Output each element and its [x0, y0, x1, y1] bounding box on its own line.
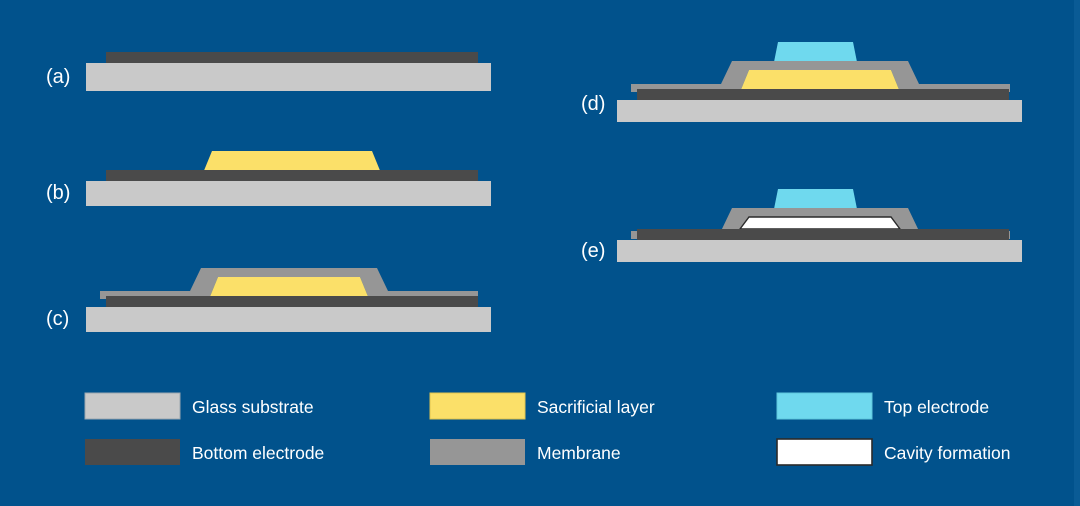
- process-flow-figure: (a) (b) (c): [0, 0, 1080, 506]
- panel-d-sacrificial-layer: [740, 70, 900, 92]
- legend-item-top-electrode: Top electrode: [777, 393, 989, 419]
- panel-a: (a): [46, 52, 491, 91]
- legend-label-top-electrode: Top electrode: [884, 397, 989, 417]
- legend-swatch-bottom-electrode: [85, 439, 180, 465]
- legend-label-sacrificial-layer: Sacrificial layer: [537, 397, 655, 417]
- panel-b: (b): [46, 151, 491, 206]
- legend: Glass substrate Bottom electrode Sacrifi…: [85, 393, 1010, 465]
- panel-e-top-electrode: [774, 189, 857, 209]
- legend-item-glass-substrate: Glass substrate: [85, 393, 314, 419]
- panel-b-sacrificial-layer: [203, 151, 381, 173]
- panel-d: (d): [581, 42, 1022, 122]
- panel-c-label: (c): [46, 308, 69, 330]
- panel-c: (c): [46, 268, 491, 332]
- panel-e-cavity-formation: [740, 217, 900, 229]
- right-edge-strip: [1074, 0, 1080, 506]
- panel-e-label: (e): [581, 240, 605, 262]
- panel-a-label: (a): [46, 66, 70, 88]
- legend-label-membrane: Membrane: [537, 443, 621, 463]
- legend-swatch-sacrificial-layer: [430, 393, 525, 419]
- panel-c-bottom-electrode: [106, 296, 478, 307]
- legend-item-membrane: Membrane: [430, 439, 621, 465]
- panel-d-top-electrode: [774, 42, 857, 62]
- legend-swatch-glass-substrate: [85, 393, 180, 419]
- panel-e-bottom-electrode: [637, 229, 1009, 240]
- panel-a-bottom-electrode: [106, 52, 478, 63]
- panel-e: (e): [581, 189, 1022, 262]
- legend-item-sacrificial-layer: Sacrificial layer: [430, 393, 655, 419]
- panel-c-sacrificial-layer: [209, 277, 369, 299]
- panel-a-glass-substrate: [86, 63, 491, 91]
- legend-label-bottom-electrode: Bottom electrode: [192, 443, 324, 463]
- legend-swatch-membrane: [430, 439, 525, 465]
- legend-label-cavity-formation: Cavity formation: [884, 443, 1010, 463]
- panel-b-glass-substrate: [86, 181, 491, 206]
- legend-item-cavity-formation: Cavity formation: [777, 439, 1010, 465]
- legend-label-glass-substrate: Glass substrate: [192, 397, 314, 417]
- panel-b-label: (b): [46, 182, 70, 204]
- process-flow-svg: (a) (b) (c): [0, 0, 1080, 506]
- legend-item-bottom-electrode: Bottom electrode: [85, 439, 324, 465]
- panel-c-glass-substrate: [86, 307, 491, 332]
- panel-b-bottom-electrode: [106, 170, 478, 181]
- panel-d-glass-substrate: [617, 100, 1022, 122]
- legend-swatch-cavity-formation: [777, 439, 872, 465]
- panel-e-glass-substrate: [617, 240, 1022, 262]
- panel-d-label: (d): [581, 93, 605, 115]
- legend-swatch-top-electrode: [777, 393, 872, 419]
- panel-d-bottom-electrode: [637, 89, 1009, 100]
